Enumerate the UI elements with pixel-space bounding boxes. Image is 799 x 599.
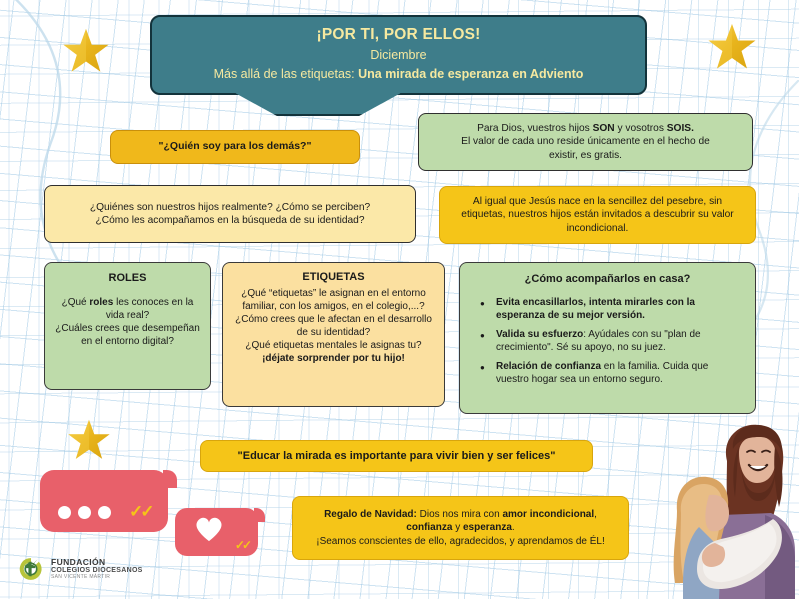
header-banner: ¡POR TI, POR ELLOS! Diciembre Más allá d… [150, 15, 647, 95]
header-bubble-tail [234, 92, 402, 116]
god-value-line3: existir, es gratis. [549, 149, 622, 162]
children-question-1: ¿Quiénes son nuestros hijos realmente? ¿… [90, 201, 370, 214]
god-value-box: Para Dios, vuestros hijos SON y vosotros… [418, 113, 753, 171]
gift-bold-esperanza: esperanza [463, 522, 512, 533]
god-value-line1: Para Dios, vuestros hijos SON y vosotros… [477, 122, 694, 135]
gift-text-3: y [452, 522, 463, 533]
god-line1-bold-son: SON [593, 123, 615, 134]
etiquetas-question-3: ¿Qué etiquetas mentales le asignas tu? [232, 339, 435, 352]
christmas-gift-box: Regalo de Navidad: Dios nos mira con amo… [292, 496, 629, 560]
god-line1-a: Para Dios, vuestros hijos [477, 123, 593, 134]
dot [78, 506, 91, 519]
home-support-title: ¿Cómo acompañarlos en casa? [470, 272, 745, 287]
roles-question-2: ¿Cuáles crees que desempeñan en el entor… [55, 322, 200, 348]
dot [58, 506, 71, 519]
header-tagline-plain: Más allá de las etiquetas: [214, 67, 359, 81]
logo-text-block: FUNDACIÓN COLEGIOS DIOCESANOS SAN VICENT… [51, 558, 143, 581]
heart-icon [194, 516, 224, 542]
page-title: ¡POR TI, POR ELLOS! [166, 25, 631, 46]
etiquetas-question-1: ¿Qué “etiquetas” le asignan en el entorn… [232, 287, 435, 313]
chat-bubble-heart-tail [254, 508, 265, 522]
header-bubble-tail-cover [234, 90, 402, 93]
gift-text-4: . [512, 522, 515, 533]
roles-q1-a: ¿Qué [62, 297, 90, 308]
roles-q1-c: les conoces en la vida real? [106, 297, 194, 321]
god-line1-bold-sois: SOIS. [667, 123, 694, 134]
header-tagline-bold: Una mirada de esperanza en Adviento [358, 67, 583, 81]
single-check-icon: ✓✓ [235, 538, 249, 552]
roles-box: ROLES ¿Qué roles les conoces en la vida … [44, 262, 211, 390]
roles-title: ROLES [55, 271, 200, 286]
children-questions-box: ¿Quiénes son nuestros hijos realmente? ¿… [44, 185, 416, 243]
list-item: Relación de confianza en la familia. Cui… [496, 360, 741, 387]
etiquetas-box: ETIQUETAS ¿Qué “etiquetas” le asignan en… [222, 262, 445, 407]
god-line1-c: y vosotros [615, 123, 667, 134]
quote-box-identity: "¿Quién soy para los demás?" [110, 130, 360, 164]
bullet-2-bold: Valida su esfuerzo [496, 329, 583, 340]
logo-cross-circle-icon [18, 556, 44, 582]
infographic-poster: ¡POR TI, POR ELLOS! Diciembre Más allá d… [0, 0, 799, 599]
gift-text-2: , [594, 509, 597, 520]
header-month: Diciembre [166, 46, 631, 65]
dot [98, 506, 111, 519]
list-item: Evita encasillarlos, intenta mirarles co… [496, 296, 741, 323]
jesus-embrace-illustration [669, 419, 799, 599]
jesus-manger-box: Al igual que Jesús nace en la sencillez … [439, 186, 756, 244]
educate-quote-box: "Educar la mirada es importante para viv… [200, 440, 593, 472]
typing-dots-icon [58, 506, 111, 519]
roles-question-1: ¿Qué roles les conoces en la vida real? [55, 296, 200, 322]
children-question-2: ¿Cómo les acompañamos en la búsqueda de … [95, 214, 364, 227]
gift-text-1: Dios nos mira con [417, 509, 503, 520]
logo-line-3: SAN VICENTE MÁRTIR [51, 575, 143, 581]
chat-bubble-typing-tail [163, 470, 177, 488]
logo-line-1: FUNDACIÓN [51, 558, 143, 568]
jesus-manger-text: Al igual que Jesús nace en la sencillez … [452, 195, 743, 235]
etiquetas-title: ETIQUETAS [232, 270, 435, 285]
gift-bold-confianza: confianza [406, 522, 452, 533]
star-icon-top-left [62, 27, 110, 75]
list-item: Valida su esfuerzo: Ayúdales con su "pla… [496, 328, 741, 355]
star-icon-top-right [707, 22, 757, 72]
etiquetas-question-2: ¿Cómo crees que le afectan en el desarro… [232, 313, 435, 339]
quote-box-identity-text: "¿Quién soy para los demás?" [159, 140, 312, 154]
educate-quote-text: "Educar la mirada es importante para viv… [238, 449, 556, 464]
roles-q1-bold: roles [89, 297, 113, 308]
gift-label-bold: Regalo de Navidad: [324, 509, 417, 520]
bullet-3-bold: Relación de confianza [496, 361, 601, 372]
bullet-1-bold: Evita encasillarlos, intenta mirarles co… [496, 297, 695, 322]
chat-bubble-typing: ✓✓ [40, 470, 168, 532]
home-support-bullet-list: Evita encasillarlos, intenta mirarles co… [470, 296, 745, 388]
star-icon-bottom-left [67, 418, 111, 462]
god-value-line2: El valor de cada uno reside únicamente e… [461, 135, 710, 148]
gift-bold-amor: amor incondicional [502, 509, 594, 520]
home-support-box: ¿Cómo acompañarlos en casa? Evita encasi… [459, 262, 756, 414]
gift-line-1: Regalo de Navidad: Dios nos mira con amo… [305, 508, 616, 534]
gift-line-2: ¡Seamos conscientes de ello, agradecidos… [316, 535, 605, 548]
etiquetas-call-to-action: ¡déjate sorprender por tu hijo! [232, 352, 435, 365]
foundation-logo: FUNDACIÓN COLEGIOS DIOCESANOS SAN VICENT… [18, 556, 143, 582]
header-tagline: Más allá de las etiquetas: Una mirada de… [166, 65, 631, 84]
chat-bubble-heart: ✓✓ [175, 508, 258, 556]
double-check-icon: ✓✓ [129, 502, 152, 522]
